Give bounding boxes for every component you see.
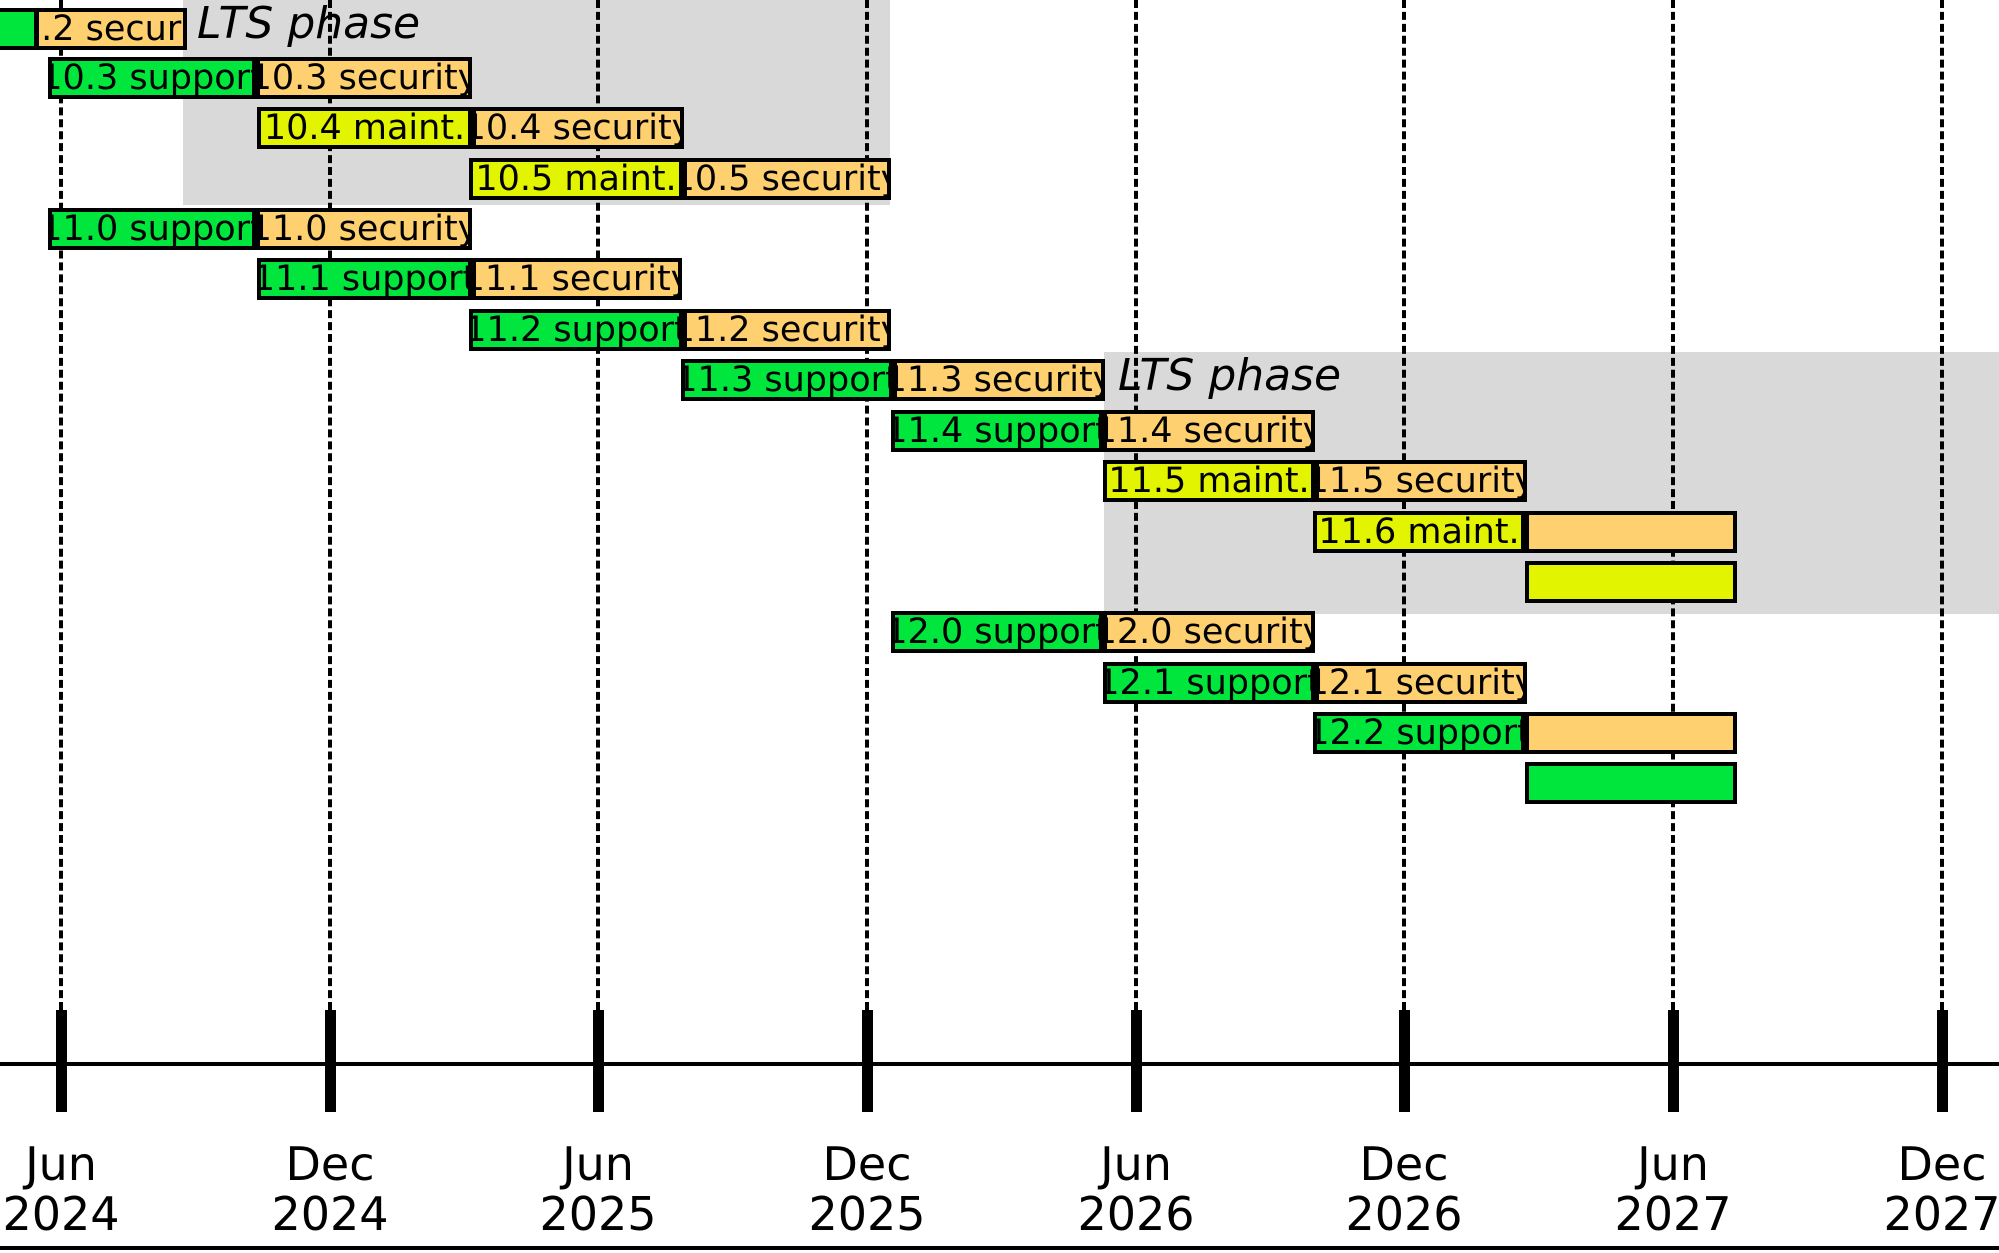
- bar-label: 11.0 support: [48, 212, 256, 247]
- x-axis-tick-label-5: Dec2026: [1294, 1140, 1514, 1239]
- bar-10-3-support[interactable]: 10.3 support: [48, 57, 256, 99]
- x-axis-tick-label-4: Jun2026: [1026, 1140, 1246, 1239]
- x-axis-tick-label-6: Jun2027: [1563, 1140, 1783, 1239]
- bar-12-0-support[interactable]: 12.0 support: [891, 611, 1103, 653]
- tick-month: Dec: [757, 1140, 977, 1190]
- bar-10-4-security[interactable]: 10.4 security: [472, 107, 684, 149]
- bar-security-10[interactable]: [1525, 511, 1737, 553]
- x-axis-tick-7: [1937, 1010, 1948, 1112]
- x-axis-tick-2: [593, 1010, 604, 1112]
- bar-11-3-security[interactable]: 11.3 security: [893, 359, 1105, 401]
- bar-11-2-security[interactable]: 11.2 security: [683, 309, 891, 351]
- bar-support-0[interactable]: [0, 8, 38, 50]
- bar-12-1-support[interactable]: 12.1 support: [1103, 662, 1315, 704]
- x-axis-tick-5: [1399, 1010, 1410, 1112]
- lts-phase-label: LTS phase: [197, 2, 420, 46]
- bar-label: 11.2 support: [469, 313, 683, 348]
- bar-12-1-security[interactable]: 12.1 security: [1315, 662, 1527, 704]
- bar-11-6-maint-[interactable]: 11.6 maint.: [1313, 511, 1525, 553]
- bar-11-2-support[interactable]: 11.2 support: [469, 309, 683, 351]
- tick-year: 2026: [1294, 1190, 1514, 1240]
- bar-10-2-security[interactable]: 10.2 security: [35, 8, 187, 50]
- bar-label: 12.1 security: [1315, 666, 1527, 701]
- tick-month: Jun: [0, 1140, 171, 1190]
- gridline-0: [59, 0, 63, 1010]
- bar-label: 11.2 security: [683, 313, 891, 348]
- bar-label: 11.4 support: [891, 414, 1103, 449]
- bar-label: 10.4 security: [472, 111, 684, 146]
- x-axis-tick-label-3: Dec2025: [757, 1140, 977, 1239]
- tick-year: 2027: [1832, 1190, 1999, 1240]
- tick-month: Jun: [1563, 1140, 1783, 1190]
- bar-label: 12.2 support: [1313, 716, 1525, 751]
- bar-10-3-security[interactable]: 10.3 security: [256, 57, 472, 99]
- bottom-rule: [0, 1246, 1999, 1250]
- x-axis-tick-label-0: Jun2024: [0, 1140, 171, 1239]
- tick-month: Jun: [488, 1140, 708, 1190]
- bar-11-1-security[interactable]: 11.1 security: [472, 258, 682, 300]
- bar-label: 11.6 maint.: [1318, 515, 1519, 550]
- gridline-1: [328, 0, 332, 1010]
- bar-11-4-support[interactable]: 11.4 support: [891, 410, 1103, 452]
- x-axis-tick-label-1: Dec2024: [220, 1140, 440, 1239]
- x-axis-tick-label-7: Dec2027: [1832, 1140, 1999, 1239]
- bar-10-5-maint-[interactable]: 10.5 maint.: [469, 158, 683, 200]
- bar-label: 10.3 security: [256, 61, 472, 96]
- bar-label: 11.1 security: [472, 262, 682, 297]
- lts-phase-label: LTS phase: [1118, 354, 1341, 398]
- bar-11-0-security[interactable]: 11.0 security: [256, 208, 472, 250]
- bar-label: 11.5 maint.: [1108, 464, 1309, 499]
- bar-11-5-security[interactable]: 11.5 security: [1315, 460, 1527, 502]
- bar-label: 11.4 security: [1103, 414, 1315, 449]
- bar-label: 12.0 security: [1103, 615, 1315, 650]
- bar-label: 10.2 security: [35, 12, 187, 47]
- gridline-5: [1402, 0, 1406, 1010]
- bar-label: 10.3 support: [48, 61, 256, 96]
- tick-month: Dec: [1294, 1140, 1514, 1190]
- x-axis-tick-6: [1668, 1010, 1679, 1112]
- tick-month: Dec: [1832, 1140, 1999, 1190]
- bar-label: 11.3 security: [893, 363, 1105, 398]
- bar-12-0-security[interactable]: 12.0 security: [1103, 611, 1315, 653]
- bar-support-15[interactable]: [1525, 762, 1737, 804]
- gridline-4: [1134, 0, 1138, 1010]
- bar-11-1-support[interactable]: 11.1 support: [257, 258, 472, 300]
- bar-11-0-support[interactable]: 11.0 support: [48, 208, 256, 250]
- gridline-6: [1671, 0, 1675, 1010]
- x-axis-tick-0: [56, 1010, 67, 1112]
- release-timeline-chart: LTS phaseLTS phase10.2 security10.3 supp…: [0, 0, 1999, 1253]
- x-axis-tick-label-2: Jun2025: [488, 1140, 708, 1239]
- bar-label: 11.0 security: [256, 212, 472, 247]
- gridline-2: [596, 0, 600, 1010]
- tick-year: 2025: [757, 1190, 977, 1240]
- tick-month: Dec: [220, 1140, 440, 1190]
- bar-label: 12.1 support: [1103, 666, 1315, 701]
- bar-11-5-maint-[interactable]: 11.5 maint.: [1103, 460, 1315, 502]
- bar-label: 11.5 security: [1315, 464, 1527, 499]
- tick-year: 2024: [0, 1190, 171, 1240]
- bar-label: 10.5 maint.: [475, 162, 676, 197]
- tick-year: 2024: [220, 1190, 440, 1240]
- gridline-7: [1940, 0, 1944, 1010]
- tick-year: 2025: [488, 1190, 708, 1240]
- tick-month: Jun: [1026, 1140, 1246, 1190]
- x-axis-line: [0, 1062, 1999, 1066]
- bar-11-4-security[interactable]: 11.4 security: [1103, 410, 1315, 452]
- bar-label: 10.5 security: [683, 162, 891, 197]
- bar-10-5-security[interactable]: 10.5 security: [683, 158, 891, 200]
- bar-maint-11[interactable]: [1525, 561, 1737, 603]
- gridline-3: [865, 0, 869, 1010]
- bar-label: 12.0 support: [891, 615, 1103, 650]
- tick-year: 2026: [1026, 1190, 1246, 1240]
- bar-security-14[interactable]: [1525, 712, 1737, 754]
- bar-label: 11.3 support: [681, 363, 893, 398]
- x-axis-tick-1: [325, 1010, 336, 1112]
- bar-label: 10.4 maint.: [264, 111, 465, 146]
- bar-10-4-maint-[interactable]: 10.4 maint.: [257, 107, 472, 149]
- tick-year: 2027: [1563, 1190, 1783, 1240]
- bar-11-3-support[interactable]: 11.3 support: [681, 359, 893, 401]
- bar-label: 11.1 support: [257, 262, 472, 297]
- x-axis-tick-4: [1131, 1010, 1142, 1112]
- bar-12-2-support[interactable]: 12.2 support: [1313, 712, 1525, 754]
- x-axis-tick-3: [862, 1010, 873, 1112]
